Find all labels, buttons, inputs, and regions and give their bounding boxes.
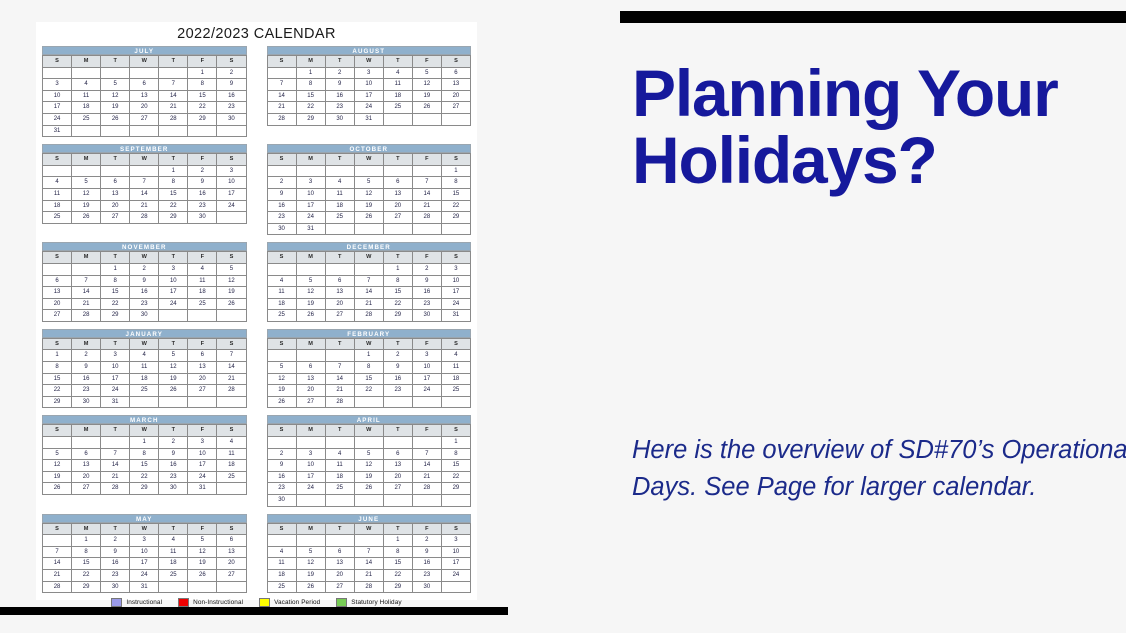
day-cell <box>188 581 217 593</box>
weekday-header-cell: F <box>188 252 217 264</box>
weekday-header-row: SMTWTFS <box>267 56 471 68</box>
day-cell: 3 <box>412 350 441 362</box>
week-row: 293031 <box>43 396 247 408</box>
calendar-title: 2022/2023 CALENDAR <box>36 22 477 46</box>
month-table: SMTWTFS123456789101112131415161718192021… <box>42 153 247 224</box>
day-cell: 11 <box>383 79 412 91</box>
day-cell <box>325 535 354 547</box>
weekday-header-cell: T <box>159 252 188 264</box>
day-cell: 12 <box>217 275 246 287</box>
day-cell: 6 <box>296 362 325 374</box>
day-cell: 27 <box>383 483 412 495</box>
day-cell: 14 <box>217 362 246 374</box>
day-cell: 13 <box>383 188 412 200</box>
week-row: 24252627282930 <box>43 113 247 125</box>
week-row: 19202122232425 <box>267 385 471 397</box>
day-cell: 17 <box>43 102 72 114</box>
day-cell: 8 <box>188 79 217 91</box>
day-cell <box>296 437 325 449</box>
day-cell: 1 <box>101 263 130 275</box>
weekday-header-cell: M <box>296 56 325 68</box>
month-name: MAY <box>42 514 247 523</box>
day-cell: 6 <box>72 448 101 460</box>
day-cell: 11 <box>441 362 470 374</box>
day-cell: 27 <box>325 581 354 593</box>
day-cell: 1 <box>441 165 470 177</box>
day-cell: 20 <box>325 298 354 310</box>
day-cell <box>354 396 383 408</box>
day-cell: 22 <box>441 200 470 212</box>
day-cell: 3 <box>159 263 188 275</box>
weekday-header-cell: S <box>267 338 296 350</box>
weekday-header-cell: S <box>43 252 72 264</box>
day-cell: 11 <box>159 546 188 558</box>
day-cell: 25 <box>217 471 246 483</box>
weekday-header-cell: T <box>325 425 354 437</box>
day-cell: 2 <box>217 67 246 79</box>
month-block: APRILSMTWTFS1234567891011121314151617181… <box>267 415 472 506</box>
day-cell: 9 <box>217 79 246 91</box>
day-cell: 19 <box>188 558 217 570</box>
day-cell: 16 <box>267 200 296 212</box>
day-cell: 28 <box>217 385 246 397</box>
day-cell: 2 <box>101 535 130 547</box>
week-row: 17181920212223 <box>43 102 247 114</box>
day-cell: 6 <box>441 67 470 79</box>
day-cell: 12 <box>43 460 72 472</box>
weekday-header-row: SMTWTFS <box>43 154 247 166</box>
weekday-header-cell: T <box>101 56 130 68</box>
month-block: SEPTEMBERSMTWTFS123456789101112131415161… <box>42 144 247 235</box>
weekday-header-cell: T <box>325 523 354 535</box>
day-cell: 6 <box>43 275 72 287</box>
day-cell <box>72 125 101 137</box>
day-cell: 28 <box>267 113 296 125</box>
week-row: 1 <box>267 165 471 177</box>
day-cell: 30 <box>101 581 130 593</box>
day-cell: 29 <box>441 483 470 495</box>
day-cell: 30 <box>72 396 101 408</box>
day-cell: 15 <box>354 373 383 385</box>
day-cell <box>441 113 470 125</box>
week-row: 252627282930 <box>43 212 247 224</box>
weekday-header-cell: M <box>296 252 325 264</box>
day-cell: 12 <box>159 362 188 374</box>
week-row: 123 <box>267 263 471 275</box>
day-cell: 1 <box>43 350 72 362</box>
legend-item: Instructional <box>111 598 162 607</box>
day-cell: 3 <box>441 263 470 275</box>
month-block: JULYSMTWTFS12345678910111213141516171819… <box>42 46 247 137</box>
week-row: 12131415161718 <box>267 373 471 385</box>
weekday-header-row: SMTWTFS <box>43 523 247 535</box>
weekday-header-cell: S <box>441 154 470 166</box>
day-cell: 17 <box>159 287 188 299</box>
month-table: SMTWTFS123456789101112131415161718192021… <box>267 523 472 594</box>
day-cell: 25 <box>383 102 412 114</box>
weekday-header-cell: M <box>296 425 325 437</box>
day-cell: 7 <box>159 79 188 91</box>
month-name: JULY <box>42 46 247 55</box>
month-block: NOVEMBERSMTWTFS1234567891011121314151617… <box>42 242 247 322</box>
day-cell: 20 <box>441 90 470 102</box>
weekday-header-cell: F <box>188 154 217 166</box>
day-cell: 17 <box>412 373 441 385</box>
day-cell: 21 <box>72 298 101 310</box>
day-cell: 10 <box>354 79 383 91</box>
day-cell: 6 <box>325 275 354 287</box>
day-cell: 18 <box>130 373 159 385</box>
day-cell <box>441 581 470 593</box>
day-cell: 12 <box>296 558 325 570</box>
month-table: SMTWTFS123456789101112131415161718192021… <box>267 251 472 322</box>
day-cell <box>188 396 217 408</box>
day-cell: 19 <box>72 200 101 212</box>
weekday-header-cell: T <box>101 154 130 166</box>
week-row: 25262728293031 <box>267 310 471 322</box>
day-cell: 11 <box>267 558 296 570</box>
day-cell: 25 <box>188 298 217 310</box>
day-cell: 22 <box>354 385 383 397</box>
week-row: 15161718192021 <box>43 373 247 385</box>
day-cell <box>354 165 383 177</box>
day-cell: 7 <box>325 362 354 374</box>
day-cell: 23 <box>412 569 441 581</box>
day-cell <box>383 165 412 177</box>
day-cell: 8 <box>383 275 412 287</box>
day-cell: 13 <box>325 558 354 570</box>
day-cell <box>159 67 188 79</box>
day-cell: 27 <box>217 569 246 581</box>
weekday-header-cell: M <box>72 425 101 437</box>
week-row: 28293031 <box>43 581 247 593</box>
day-cell: 10 <box>217 177 246 189</box>
legend-swatch-icon <box>336 598 347 607</box>
weekday-header-cell: M <box>296 523 325 535</box>
month-table: SMTWTFS123456789101112131415161718192021… <box>42 424 247 495</box>
day-cell <box>43 263 72 275</box>
weekday-header-cell: T <box>325 154 354 166</box>
day-cell: 10 <box>43 90 72 102</box>
day-cell: 21 <box>217 373 246 385</box>
day-cell: 2 <box>267 177 296 189</box>
day-cell: 28 <box>43 581 72 593</box>
day-cell: 30 <box>130 310 159 322</box>
month-block: AUGUSTSMTWTFS123456789101112131415161718… <box>267 46 472 137</box>
day-cell: 26 <box>72 212 101 224</box>
day-cell: 31 <box>43 125 72 137</box>
day-cell <box>72 165 101 177</box>
weekday-header-cell: S <box>267 252 296 264</box>
day-cell: 5 <box>101 79 130 91</box>
day-cell: 31 <box>441 310 470 322</box>
day-cell: 15 <box>43 373 72 385</box>
day-cell: 11 <box>130 362 159 374</box>
day-cell: 29 <box>441 212 470 224</box>
legend-item: Vacation Period <box>259 598 320 607</box>
day-cell: 17 <box>354 90 383 102</box>
weekday-header-cell: M <box>72 56 101 68</box>
day-cell: 13 <box>383 460 412 472</box>
day-cell: 20 <box>188 373 217 385</box>
day-cell: 18 <box>188 287 217 299</box>
day-cell: 3 <box>296 177 325 189</box>
week-row: 18192021222324 <box>43 200 247 212</box>
day-cell <box>296 535 325 547</box>
day-cell <box>412 396 441 408</box>
day-cell: 10 <box>441 546 470 558</box>
day-cell: 3 <box>217 165 246 177</box>
day-cell: 4 <box>441 350 470 362</box>
day-cell: 23 <box>325 102 354 114</box>
day-cell <box>267 67 296 79</box>
week-row: 21222324252627 <box>267 102 471 114</box>
day-cell: 17 <box>188 460 217 472</box>
day-cell: 25 <box>267 310 296 322</box>
day-cell: 17 <box>101 373 130 385</box>
day-cell: 29 <box>72 581 101 593</box>
day-cell: 29 <box>296 113 325 125</box>
legend-item: Non-Instructional <box>178 598 243 607</box>
week-row: 14151617181920 <box>43 558 247 570</box>
weekday-header-row: SMTWTFS <box>267 252 471 264</box>
weekday-header-cell: W <box>130 252 159 264</box>
day-cell <box>296 350 325 362</box>
weekday-header-cell: S <box>441 425 470 437</box>
day-cell <box>354 223 383 235</box>
day-cell: 11 <box>325 188 354 200</box>
day-cell: 1 <box>296 67 325 79</box>
weekday-header-cell: S <box>43 154 72 166</box>
day-cell <box>130 125 159 137</box>
day-cell <box>412 495 441 507</box>
day-cell: 29 <box>383 310 412 322</box>
day-cell <box>159 125 188 137</box>
weekday-header-cell: W <box>354 338 383 350</box>
day-cell <box>412 223 441 235</box>
weekday-header-cell: S <box>43 425 72 437</box>
day-cell <box>43 165 72 177</box>
day-cell: 14 <box>354 287 383 299</box>
day-cell: 16 <box>72 373 101 385</box>
weekday-header-cell: M <box>72 252 101 264</box>
day-cell <box>267 437 296 449</box>
day-cell: 26 <box>188 569 217 581</box>
week-row: 11121314151617 <box>267 558 471 570</box>
day-cell: 5 <box>267 362 296 374</box>
day-cell: 9 <box>412 275 441 287</box>
day-cell: 18 <box>267 569 296 581</box>
top-divider-rule <box>620 11 1126 23</box>
day-cell: 23 <box>412 298 441 310</box>
day-cell <box>217 125 246 137</box>
day-cell: 4 <box>159 535 188 547</box>
week-row: 31 <box>43 125 247 137</box>
day-cell: 28 <box>412 212 441 224</box>
legend-swatch-icon <box>178 598 189 607</box>
day-cell: 18 <box>267 298 296 310</box>
day-cell: 18 <box>441 373 470 385</box>
weekday-header-row: SMTWTFS <box>267 338 471 350</box>
day-cell: 7 <box>72 275 101 287</box>
day-cell: 30 <box>267 223 296 235</box>
day-cell: 30 <box>412 310 441 322</box>
day-cell: 4 <box>267 275 296 287</box>
day-cell: 27 <box>441 102 470 114</box>
day-cell: 7 <box>354 275 383 287</box>
month-name: JANUARY <box>42 329 247 338</box>
week-row: 27282930 <box>43 310 247 322</box>
weekday-header-cell: S <box>43 338 72 350</box>
day-cell: 21 <box>412 471 441 483</box>
day-cell: 12 <box>101 90 130 102</box>
day-cell: 25 <box>130 385 159 397</box>
day-cell: 16 <box>412 287 441 299</box>
day-cell: 12 <box>412 79 441 91</box>
day-cell: 24 <box>159 298 188 310</box>
day-cell: 4 <box>325 177 354 189</box>
day-cell: 26 <box>43 483 72 495</box>
day-cell: 21 <box>101 471 130 483</box>
day-cell <box>296 495 325 507</box>
day-cell <box>188 125 217 137</box>
day-cell: 20 <box>383 471 412 483</box>
day-cell <box>383 113 412 125</box>
day-cell: 10 <box>159 275 188 287</box>
day-cell: 8 <box>72 546 101 558</box>
day-cell: 29 <box>130 483 159 495</box>
day-cell: 13 <box>43 287 72 299</box>
day-cell: 9 <box>159 448 188 460</box>
day-cell: 16 <box>325 90 354 102</box>
day-cell <box>354 495 383 507</box>
month-name: OCTOBER <box>267 144 472 153</box>
week-row: 11121314151617 <box>43 188 247 200</box>
weekday-header-cell: S <box>217 338 246 350</box>
week-row: 12 <box>43 67 247 79</box>
day-cell <box>441 223 470 235</box>
month-name: APRIL <box>267 415 472 424</box>
day-cell: 12 <box>354 460 383 472</box>
day-cell: 2 <box>383 350 412 362</box>
day-cell: 20 <box>43 298 72 310</box>
day-cell: 7 <box>43 546 72 558</box>
weekday-header-row: SMTWTFS <box>267 154 471 166</box>
day-cell: 15 <box>72 558 101 570</box>
week-row: 9101112131415 <box>267 188 471 200</box>
month-table: SMTWTFS123456789101112131415161718192021… <box>267 424 472 506</box>
week-row: 45678910 <box>43 177 247 189</box>
day-cell: 20 <box>217 558 246 570</box>
day-cell: 25 <box>159 569 188 581</box>
day-cell: 8 <box>354 362 383 374</box>
week-row: 891011121314 <box>43 362 247 374</box>
day-cell: 12 <box>354 188 383 200</box>
weekday-header-cell: T <box>325 252 354 264</box>
day-cell <box>383 495 412 507</box>
day-cell <box>412 113 441 125</box>
weekday-header-cell: F <box>188 56 217 68</box>
day-cell: 2 <box>412 263 441 275</box>
day-cell: 3 <box>101 350 130 362</box>
day-cell: 15 <box>296 90 325 102</box>
day-cell: 18 <box>159 558 188 570</box>
day-cell <box>267 263 296 275</box>
day-cell: 10 <box>130 546 159 558</box>
week-row: 123 <box>267 535 471 547</box>
weekday-header-cell: M <box>296 154 325 166</box>
day-cell: 23 <box>101 569 130 581</box>
day-cell: 8 <box>159 177 188 189</box>
weekday-header-cell: M <box>72 154 101 166</box>
week-row: 123 <box>43 165 247 177</box>
day-cell <box>325 437 354 449</box>
day-cell: 25 <box>72 113 101 125</box>
day-cell: 8 <box>441 177 470 189</box>
weekday-header-row: SMTWTFS <box>43 338 247 350</box>
day-cell: 18 <box>383 90 412 102</box>
day-cell: 4 <box>267 546 296 558</box>
day-cell: 6 <box>383 448 412 460</box>
legend-label: Instructional <box>126 599 162 606</box>
day-cell: 24 <box>188 471 217 483</box>
months-grid: JULYSMTWTFS12345678910111213141516171819… <box>36 46 477 593</box>
weekday-header-cell: W <box>354 252 383 264</box>
day-cell: 1 <box>383 263 412 275</box>
day-cell: 19 <box>159 373 188 385</box>
day-cell: 21 <box>325 385 354 397</box>
month-name: DECEMBER <box>267 242 472 251</box>
day-cell: 25 <box>325 483 354 495</box>
day-cell: 9 <box>267 460 296 472</box>
day-cell: 18 <box>72 102 101 114</box>
day-cell: 22 <box>383 298 412 310</box>
day-cell: 12 <box>72 188 101 200</box>
day-cell: 26 <box>101 113 130 125</box>
day-cell: 17 <box>217 188 246 200</box>
day-cell <box>101 165 130 177</box>
week-row: 28293031 <box>267 113 471 125</box>
weekday-header-cell: F <box>412 523 441 535</box>
day-cell: 17 <box>441 287 470 299</box>
weekday-header-cell: S <box>267 425 296 437</box>
weekday-header-cell: S <box>217 56 246 68</box>
day-cell <box>267 535 296 547</box>
day-cell: 17 <box>441 558 470 570</box>
day-cell: 8 <box>441 448 470 460</box>
day-cell <box>412 165 441 177</box>
day-cell: 12 <box>267 373 296 385</box>
day-cell <box>130 67 159 79</box>
day-cell <box>217 310 246 322</box>
day-cell <box>354 535 383 547</box>
week-row: 2345678 <box>267 177 471 189</box>
weekday-header-cell: F <box>188 338 217 350</box>
day-cell: 28 <box>354 310 383 322</box>
week-row: 18192021222324 <box>267 298 471 310</box>
day-cell: 1 <box>188 67 217 79</box>
day-cell: 11 <box>217 448 246 460</box>
day-cell: 19 <box>217 287 246 299</box>
day-cell: 20 <box>101 200 130 212</box>
day-cell: 5 <box>296 546 325 558</box>
day-cell: 14 <box>130 188 159 200</box>
day-cell: 4 <box>325 448 354 460</box>
day-cell: 18 <box>325 200 354 212</box>
week-row: 13141516171819 <box>43 287 247 299</box>
day-cell: 4 <box>188 263 217 275</box>
week-row: 1 <box>267 437 471 449</box>
